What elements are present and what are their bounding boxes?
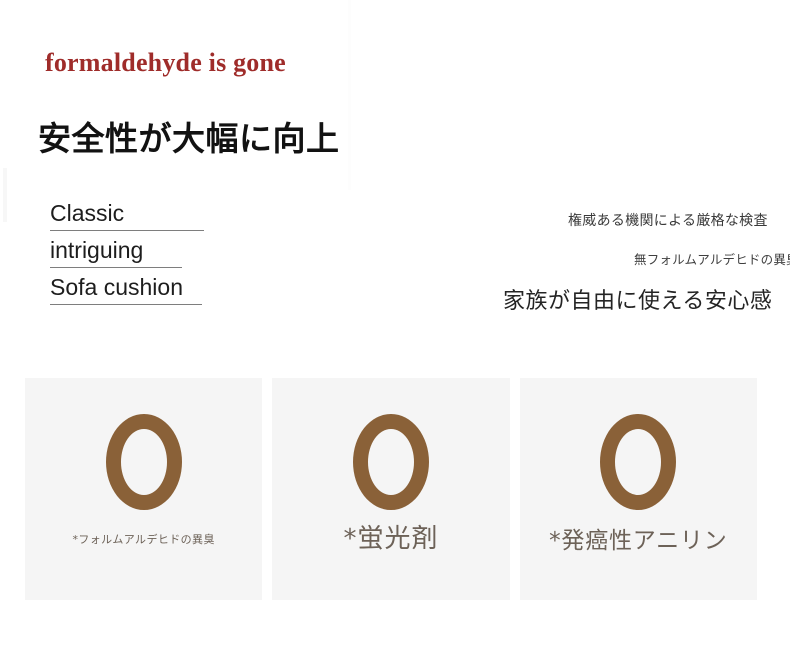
product-promo-page: formaldehyde is gone 安全性が大幅に向上 Classic i… xyxy=(0,0,790,661)
headline-english: formaldehyde is gone xyxy=(45,48,286,78)
zero-claim-caption: *フォルムアルデヒドの異臭 xyxy=(25,531,262,547)
zero-claim-card: *発癌性アニリン xyxy=(520,378,757,600)
zero-claim-card: *フォルムアルデヒドの異臭 xyxy=(25,378,262,600)
zero-ring-icon xyxy=(600,414,676,510)
headline-japanese: 安全性が大幅に向上 xyxy=(38,112,340,160)
zero-claim-caption: *発癌性アニリン xyxy=(520,521,757,555)
zero-ring-icon xyxy=(353,414,429,510)
highlight-assurance: 家族が自由に使える安心感 xyxy=(503,283,772,315)
zero-claims-card-row: *フォルムアルデヒドの異臭 *蛍光剤 *発癌性アニリン xyxy=(25,378,757,600)
image-seam-left xyxy=(3,168,7,222)
brand-tagline-block: Classic intriguing Sofa cushion xyxy=(50,200,280,311)
highlight-odor: 無フォルムアルデヒドの異臭 xyxy=(634,249,790,268)
zero-claim-caption: *蛍光剤 xyxy=(272,518,509,555)
image-seam-middle xyxy=(348,0,351,190)
brand-line-classic: Classic xyxy=(50,200,204,231)
zero-claim-card: *蛍光剤 xyxy=(272,378,509,600)
brand-line-intriguing: intriguing xyxy=(50,237,182,268)
brand-line-sofa-cushion: Sofa cushion xyxy=(50,274,202,305)
zero-ring-icon xyxy=(106,414,182,510)
highlight-inspection: 権威ある機関による厳格な検査 xyxy=(568,210,768,230)
